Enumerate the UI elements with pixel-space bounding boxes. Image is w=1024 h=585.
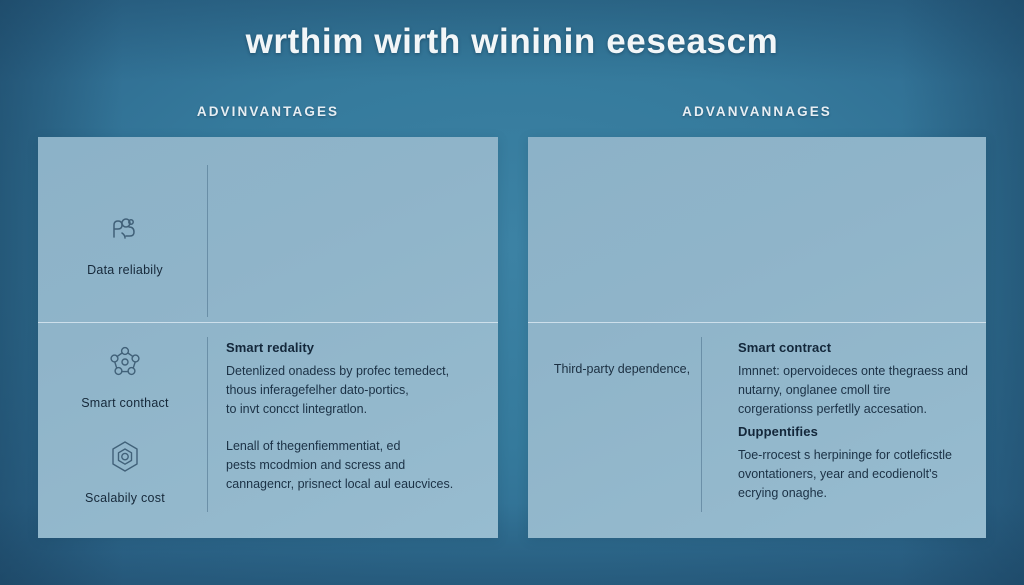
slide-canvas: wrthim wirth wininin eeseascm ADVINVANTA… [0, 0, 1024, 585]
right-panel: Third-party dependence, Smart contract I… [528, 137, 986, 538]
list-item[interactable]: Smart conthact [50, 342, 200, 410]
hexagon-node-icon [105, 437, 145, 477]
text-block-line: ovontationers, year and ecodienolt's [738, 465, 988, 484]
left-panel-horizontal-divider [38, 322, 498, 323]
list-item-label: Third-party dependence, [554, 362, 690, 376]
text-block: Smart contract Imnnet: opervoideces onte… [738, 340, 988, 419]
text-block-line: ecrying onaghe. [738, 484, 988, 503]
list-item[interactable]: Data reliabily [50, 209, 200, 277]
molecule-network-icon [105, 342, 145, 382]
text-block-title: Smart redality [226, 340, 488, 355]
text-block-line: pests mcodmion and scress and [226, 456, 488, 475]
page-title: wrthim wirth wininin eeseascm [0, 22, 1024, 62]
text-block-line: Detenlized onadess by profec temedect, [226, 362, 488, 381]
text-block-line: cannagencr, prisnect local aul eaucvices… [226, 475, 488, 494]
text-block: Duppentifies Toe-rrocest s herpininge fo… [738, 424, 988, 503]
list-item-label: Data reliabily [50, 263, 200, 277]
text-block-line: nutarny, onglanee cmoll tire [738, 381, 988, 400]
right-panel-horizontal-divider [528, 322, 986, 323]
column-header-disadvantages: ADVANVANNAGES [528, 104, 986, 119]
text-block: Lenall of thegenfiemmentiat, ed pests mc… [226, 437, 488, 494]
text-block-title: Duppentifies [738, 424, 988, 439]
text-block: Smart redality Detenlized onadess by pro… [226, 340, 488, 419]
text-block-line: corgerationss perfetlly accesation. [738, 400, 988, 419]
list-item-label: Scalabily cost [50, 491, 200, 505]
text-block-line: Toe-rrocest s herpininge for cotleficstl… [738, 446, 988, 465]
column-header-advantages: ADVINVANTAGES [38, 104, 498, 119]
text-block-line: Imnnet: opervoideces onte thegraess and [738, 362, 988, 381]
list-item[interactable]: Third-party dependence, [542, 362, 702, 376]
list-item[interactable]: Scalabily cost [50, 437, 200, 505]
text-block-line: to invt concct lintegratlon. [226, 400, 488, 419]
left-panel: Data reliabily Smart conthact [38, 137, 498, 538]
text-block-title: Smart contract [738, 340, 988, 355]
text-block-line: Lenall of thegenfiemmentiat, ed [226, 437, 488, 456]
people-network-icon [105, 209, 145, 249]
list-item-label: Smart conthact [50, 396, 200, 410]
text-block-line: thous inferagefelher dato-portics, [226, 381, 488, 400]
left-panel-vertical-divider-top [207, 165, 208, 317]
left-panel-vertical-divider-bottom [207, 337, 208, 512]
